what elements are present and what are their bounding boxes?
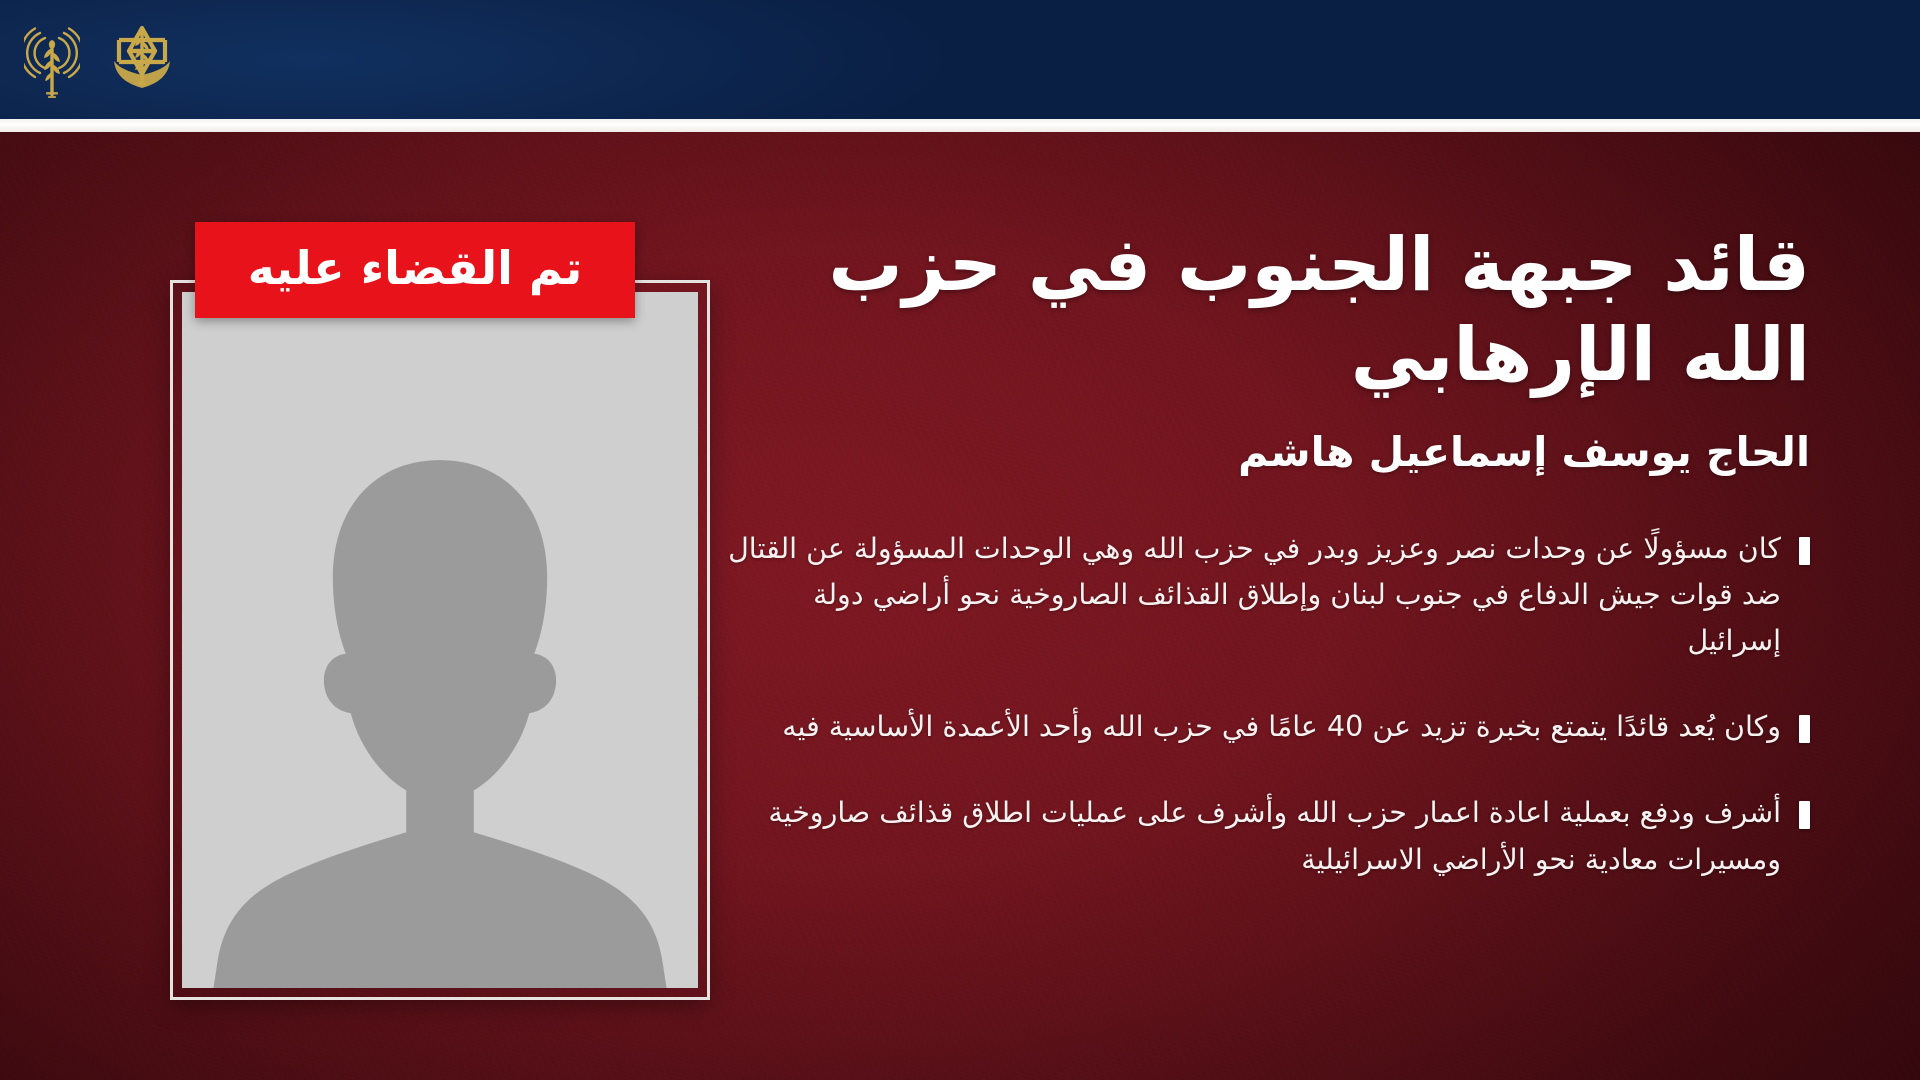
portrait-photo: [182, 292, 698, 988]
header-divider-strip: [0, 119, 1920, 132]
list-item-text: كان مسؤولًا عن وحدات نصر وعزيز وبدر في ح…: [728, 526, 1781, 664]
list-item: وكان يُعد قائدًا يتمتع بخبرة تزيد عن 40 …: [728, 704, 1810, 750]
portrait-card: تم القضاء عليه: [170, 280, 710, 1000]
list-item: أشرف ودفع بعملية اعادة اعمار حزب الله وأ…: [728, 790, 1810, 882]
bullet-marker-icon: [1799, 801, 1810, 829]
bullet-list: كان مسؤولًا عن وحدات نصر وعزيز وبدر في ح…: [710, 526, 1810, 883]
idf-insignia-emblem: [106, 23, 178, 97]
person-silhouette-icon: [182, 292, 698, 988]
idf-spokesperson-antenna-emblem: [24, 22, 80, 98]
bullet-marker-icon: [1799, 715, 1810, 743]
list-item-text: أشرف ودفع بعملية اعادة اعمار حزب الله وأ…: [728, 790, 1781, 882]
text-column: قائد جبهة الجنوب في حزب الله الإرهابي ال…: [710, 220, 1810, 923]
list-item-text: وكان يُعد قائدًا يتمتع بخبرة تزيد عن 40 …: [728, 704, 1781, 750]
header-band: [0, 0, 1920, 119]
subject-name: الحاج يوسف إسماعيل هاشم: [710, 427, 1810, 478]
main-body: قائد جبهة الجنوب في حزب الله الإرهابي ال…: [0, 132, 1920, 1080]
list-item: كان مسؤولًا عن وحدات نصر وعزيز وبدر في ح…: [728, 526, 1810, 664]
header-emblem-group: [24, 0, 178, 119]
status-badge-label: تم القضاء عليه: [248, 245, 583, 295]
portrait-frame: [170, 280, 710, 1000]
announcement-poster: قائد جبهة الجنوب في حزب الله الإرهابي ال…: [0, 0, 1920, 1080]
bullet-marker-icon: [1799, 537, 1810, 565]
status-badge: تم القضاء عليه: [195, 222, 635, 318]
page-title: قائد جبهة الجنوب في حزب الله الإرهابي: [710, 220, 1810, 401]
